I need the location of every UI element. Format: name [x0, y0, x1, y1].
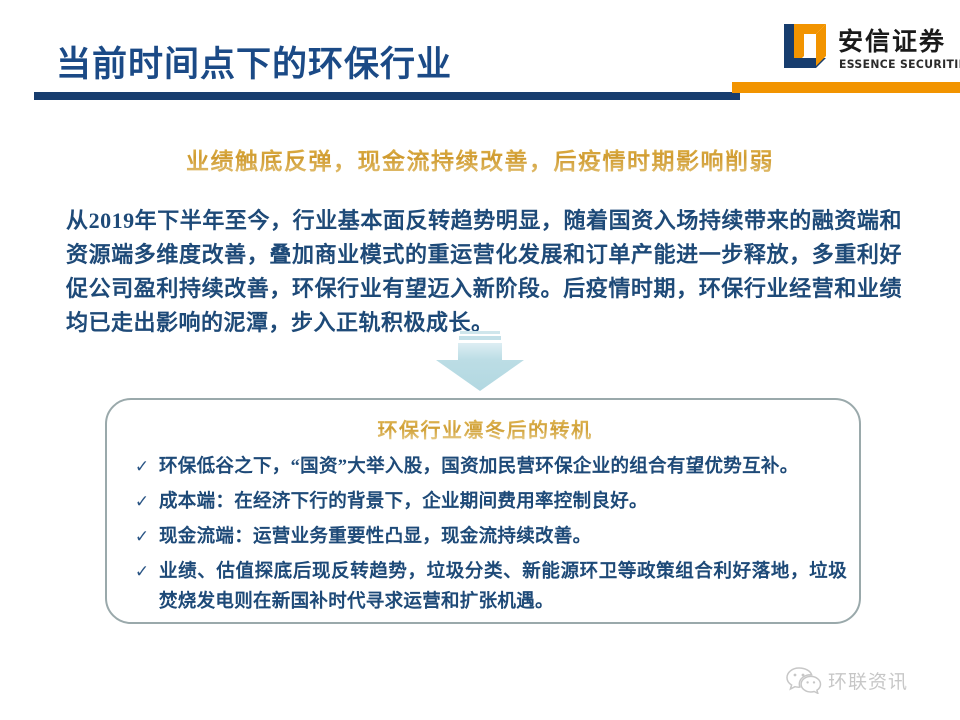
logo-company-name-en: ESSENCE SECURITIES: [839, 57, 960, 71]
check-icon: ✓: [125, 487, 159, 517]
list-item: ✓ 业绩、估值探底后现反转趋势，垃圾分类、新能源环卫等政策组合利好落地，垃圾焚烧…: [125, 557, 847, 617]
list-item: ✓ 环保低谷之下，“国资”大举入股，国资加民营环保企业的组合有望优势互补。: [125, 452, 847, 482]
wechat-icon: [786, 666, 822, 694]
list-item-text: 成本端：在经济下行的背景下，企业期间费用率控制良好。: [159, 487, 847, 517]
check-icon: ✓: [125, 522, 159, 552]
check-icon: ✓: [125, 452, 159, 482]
page-title: 当前时间点下的环保行业: [56, 36, 452, 87]
list-item-text: 环保低谷之下，“国资”大举入股，国资加民营环保企业的组合有望优势互补。: [159, 452, 847, 482]
insight-box: 环保行业凛冬后的转机 ✓ 环保低谷之下，“国资”大举入股，国资加民营环保企业的组…: [105, 398, 861, 624]
insight-box-heading: 环保行业凛冬后的转机: [107, 414, 863, 443]
essence-securities-logo-mark-icon: [782, 22, 830, 68]
slide-subtitle: 业绩触底反弹，现金流持续改善，后疫情时期影响削弱: [0, 142, 960, 176]
list-item: ✓ 现金流端：运营业务重要性凸显，现金流持续改善。: [125, 522, 847, 552]
down-arrow-icon: [420, 330, 540, 392]
brand-logo: 安信证券 ESSENCE SECURITIES: [782, 20, 960, 80]
logo-company-name-cn: 安信证券: [838, 22, 946, 58]
list-item: ✓ 成本端：在经济下行的背景下，企业期间费用率控制良好。: [125, 487, 847, 517]
list-item-text: 业绩、估值探底后现反转趋势，垃圾分类、新能源环卫等政策组合利好落地，垃圾焚烧发电…: [159, 557, 847, 617]
watermark-label: 环联资讯: [828, 667, 908, 694]
source-watermark: 环联资讯: [786, 663, 954, 697]
body-paragraph: 从2019年下半年至今，行业基本面反转趋势明显，随着国资入场持续带来的融资端和资…: [66, 204, 902, 340]
check-icon: ✓: [125, 557, 159, 587]
header-rule-orange: [732, 82, 960, 93]
insight-bullet-list: ✓ 环保低谷之下，“国资”大举入股，国资加民营环保企业的组合有望优势互补。 ✓ …: [125, 452, 847, 622]
slide-header: 当前时间点下的环保行业 安信证券 ESSENCE SECURITIES: [0, 0, 960, 110]
header-rule-navy: [34, 92, 740, 100]
list-item-text: 现金流端：运营业务重要性凸显，现金流持续改善。: [159, 522, 847, 552]
